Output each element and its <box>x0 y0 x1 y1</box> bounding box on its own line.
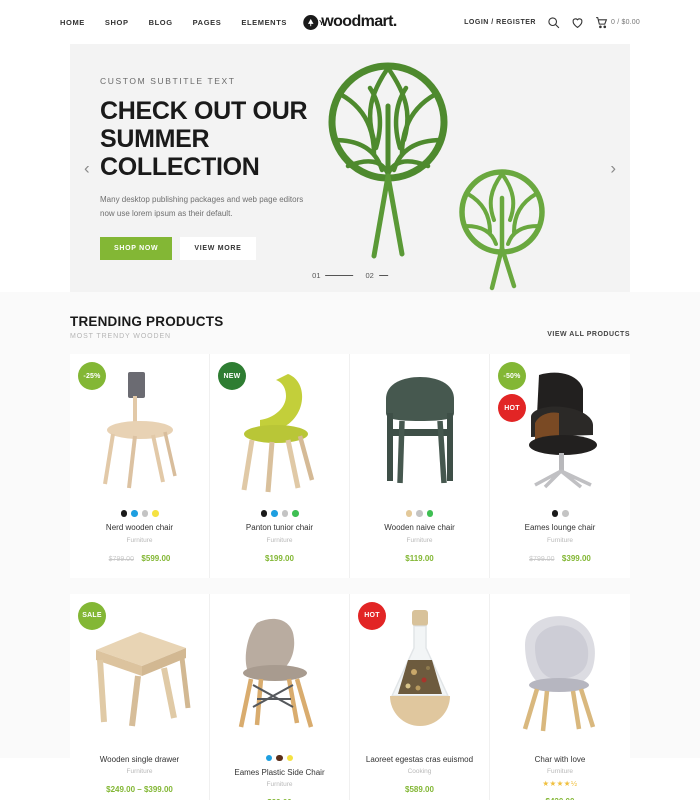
product-category[interactable]: Furniture <box>496 537 624 544</box>
product-info: Eames Plastic Side Chair Furniture $99.0… <box>210 749 349 800</box>
color-swatch[interactable] <box>416 510 423 517</box>
product-info: Panton tunior chair Furniture $199.00 <box>210 504 349 578</box>
section-header: TRENDING PRODUCTS MOST TRENDY WOODEN VIE… <box>70 314 630 340</box>
shop-now-button[interactable]: SHOP NOW <box>100 237 172 260</box>
hero-buttons: SHOP NOW VIEW MORE <box>100 237 345 260</box>
hero-next-arrow-icon[interactable]: › <box>610 160 616 177</box>
product-title[interactable]: Wooden single drawer <box>76 755 203 765</box>
hero-slide-line-1 <box>326 275 354 276</box>
logo-text: woodmart. <box>321 13 397 31</box>
view-all-products-link[interactable]: VIEW ALL PRODUCTS <box>547 331 630 340</box>
color-swatches <box>216 510 343 517</box>
nav-item-blog[interactable]: BLOG <box>149 18 173 27</box>
product-info: Eames lounge chair Furniture $799.00 $39… <box>490 504 630 578</box>
hero-slide-line-2 <box>379 275 388 276</box>
product-price: $399.00 <box>562 554 591 563</box>
product-price: $249.00 – $399.00 <box>106 785 173 794</box>
product-old-price: $799.00 <box>109 556 134 563</box>
product-price: $599.00 <box>141 554 170 563</box>
product-image[interactable]: -50% HOT <box>490 354 630 504</box>
product-image[interactable] <box>350 354 489 504</box>
product-card[interactable]: Char with love Furniture ★★★★½ $420.00 <box>490 594 630 800</box>
color-swatch[interactable] <box>131 510 138 517</box>
product-card[interactable]: -25% <box>70 354 210 578</box>
product-card[interactable]: NEW <box>210 354 350 578</box>
product-price-row: $199.00 <box>216 548 343 566</box>
product-old-price: $799.00 <box>529 556 554 563</box>
hero-title-line1: CHECK OUT OUR <box>100 97 345 125</box>
color-swatch[interactable] <box>261 510 268 517</box>
row-separator <box>70 578 630 594</box>
hero-title: CHECK OUT OUR SUMMER COLLECTION <box>100 97 345 181</box>
product-badges: -25% <box>78 362 106 390</box>
nav-item-elements[interactable]: ELEMENTS <box>241 18 287 27</box>
product-price-row: $249.00 – $399.00 <box>76 779 203 797</box>
color-swatch[interactable] <box>287 755 294 762</box>
nav-item-shop[interactable]: SHOP <box>105 18 129 27</box>
hero-subtitle: CUSTOM SUBTITLE TEXT <box>100 76 345 86</box>
product-grid-row-1: -25% <box>70 354 630 578</box>
cart-icon <box>595 16 608 29</box>
color-swatch[interactable] <box>152 510 159 517</box>
product-badges: NEW <box>218 362 246 390</box>
status-badge: NEW <box>218 362 246 390</box>
color-swatch[interactable] <box>562 510 569 517</box>
section-subtitle: MOST TRENDY WOODEN <box>70 333 223 340</box>
status-badge: -25% <box>78 362 106 390</box>
product-category[interactable]: Furniture <box>216 537 343 544</box>
page-root: HOME SHOP BLOG PAGES ELEMENTS BUY woodma… <box>0 0 700 800</box>
product-title[interactable]: Char with love <box>496 755 624 765</box>
status-badge: -50% <box>498 362 526 390</box>
product-category[interactable]: Cooking <box>356 768 483 775</box>
search-icon[interactable] <box>547 16 560 29</box>
product-title[interactable]: Wooden naive chair <box>356 523 483 533</box>
product-price: $199.00 <box>265 554 294 563</box>
hero-pagination: 01 02 <box>312 271 388 280</box>
header-actions: LOGIN / REGISTER 0 / $0.00 <box>464 16 640 29</box>
color-swatch[interactable] <box>142 510 149 517</box>
product-image[interactable]: HOT <box>350 594 489 749</box>
hero-prev-arrow-icon[interactable]: ‹ <box>84 160 90 177</box>
color-swatch[interactable] <box>266 755 273 762</box>
product-image[interactable]: SALE <box>70 594 209 749</box>
hero-slider-section: ‹ › <box>0 44 700 292</box>
product-info: Wooden naive chair Furniture $119.00 <box>350 504 489 578</box>
color-swatch[interactable] <box>427 510 434 517</box>
product-title[interactable]: Laoreet egestas cras euismod <box>356 755 483 765</box>
page-title: TRENDING PRODUCTS <box>70 314 223 329</box>
nav-item-pages[interactable]: PAGES <box>193 18 222 27</box>
product-title[interactable]: Nerd wooden chair <box>76 523 203 533</box>
product-image[interactable]: -25% <box>70 354 209 504</box>
product-rating: ★★★★½ <box>496 779 624 788</box>
color-swatch[interactable] <box>271 510 278 517</box>
hero-content: CUSTOM SUBTITLE TEXT CHECK OUT OUR SUMME… <box>70 76 345 260</box>
product-card[interactable]: Eames Plastic Side Chair Furniture $99.0… <box>210 594 350 800</box>
product-info: Laoreet egestas cras euismod Cooking $58… <box>350 749 489 800</box>
login-register-link[interactable]: LOGIN / REGISTER <box>464 19 536 26</box>
site-header: HOME SHOP BLOG PAGES ELEMENTS BUY woodma… <box>0 0 700 44</box>
nav-item-home[interactable]: HOME <box>60 18 85 27</box>
product-category[interactable]: Furniture <box>496 768 624 775</box>
hero-title-line2: SUMMER COLLECTION <box>100 125 345 181</box>
product-info: Wooden single drawer Furniture $249.00 –… <box>70 749 209 800</box>
product-title[interactable]: Eames lounge chair <box>496 523 624 533</box>
product-price-row: $799.00 $399.00 <box>496 548 624 566</box>
product-card[interactable]: SALE Wooden single drawer Furniture <box>70 594 210 800</box>
color-swatches <box>496 510 624 517</box>
product-badges: HOT <box>358 602 386 630</box>
product-price: $119.00 <box>405 554 433 563</box>
color-swatch[interactable] <box>121 510 128 517</box>
product-badges: SALE <box>78 602 106 630</box>
cart-button[interactable]: 0 / $0.00 <box>595 16 640 29</box>
site-logo[interactable]: woodmart. <box>303 13 397 31</box>
product-info: Char with love Furniture ★★★★½ $420.00 <box>490 749 630 800</box>
product-category[interactable]: Furniture <box>216 781 343 788</box>
hero-pagination-item-1[interactable]: 01 <box>312 271 353 280</box>
product-price-row: $119.00 <box>356 548 483 566</box>
hero-slide-number-1: 01 <box>312 271 320 280</box>
view-more-button[interactable]: VIEW MORE <box>180 237 255 260</box>
product-title[interactable]: Panton tunior chair <box>216 523 343 533</box>
main-navigation: HOME SHOP BLOG PAGES ELEMENTS BUY <box>60 18 325 27</box>
product-image[interactable] <box>490 594 630 749</box>
color-swatches <box>76 510 203 517</box>
cart-total-label: 0 / $0.00 <box>611 19 640 26</box>
hero-description: Many desktop publishing packages and web… <box>100 193 310 221</box>
product-category[interactable]: Furniture <box>76 768 203 775</box>
product-category[interactable]: Furniture <box>76 537 203 544</box>
product-title[interactable]: Eames Plastic Side Chair <box>216 768 343 778</box>
status-badge: HOT <box>498 394 526 422</box>
product-price-row: $99.00 <box>216 792 343 800</box>
color-swatches <box>216 755 343 762</box>
color-swatch[interactable] <box>292 510 299 517</box>
product-price: $589.00 <box>405 785 434 794</box>
product-badges: -50% HOT <box>498 362 526 422</box>
product-grid-row-2: SALE Wooden single drawer Furniture <box>70 594 630 800</box>
heart-icon[interactable] <box>571 16 584 29</box>
color-swatch[interactable] <box>276 755 283 762</box>
trending-products-section: TRENDING PRODUCTS MOST TRENDY WOODEN VIE… <box>0 292 700 758</box>
product-price-row: $589.00 <box>356 779 483 797</box>
color-swatch[interactable] <box>552 510 559 517</box>
color-swatch[interactable] <box>282 510 289 517</box>
product-category[interactable]: Furniture <box>356 537 483 544</box>
product-price-row: $799.00 $599.00 <box>76 548 203 566</box>
hero-slide: ‹ › <box>70 44 630 292</box>
product-image[interactable] <box>210 594 349 749</box>
product-card[interactable]: HOT Laoreet egestas cras euismod Cooki <box>350 594 490 800</box>
status-badge: SALE <box>78 602 106 630</box>
product-card[interactable]: -50% HOT <box>490 354 630 578</box>
hero-slide-number-2: 02 <box>366 271 374 280</box>
status-badge: HOT <box>358 602 386 630</box>
logo-tree-icon <box>303 15 318 30</box>
product-info: Nerd wooden chair Furniture $799.00 $599… <box>70 504 209 578</box>
hero-pagination-item-2[interactable]: 02 <box>366 271 388 280</box>
color-swatches <box>356 510 483 517</box>
product-price-row: $420.00 <box>496 791 624 800</box>
product-card[interactable]: Wooden naive chair Furniture $119.00 <box>350 354 490 578</box>
color-swatch[interactable] <box>406 510 413 517</box>
product-image[interactable]: NEW <box>210 354 349 504</box>
